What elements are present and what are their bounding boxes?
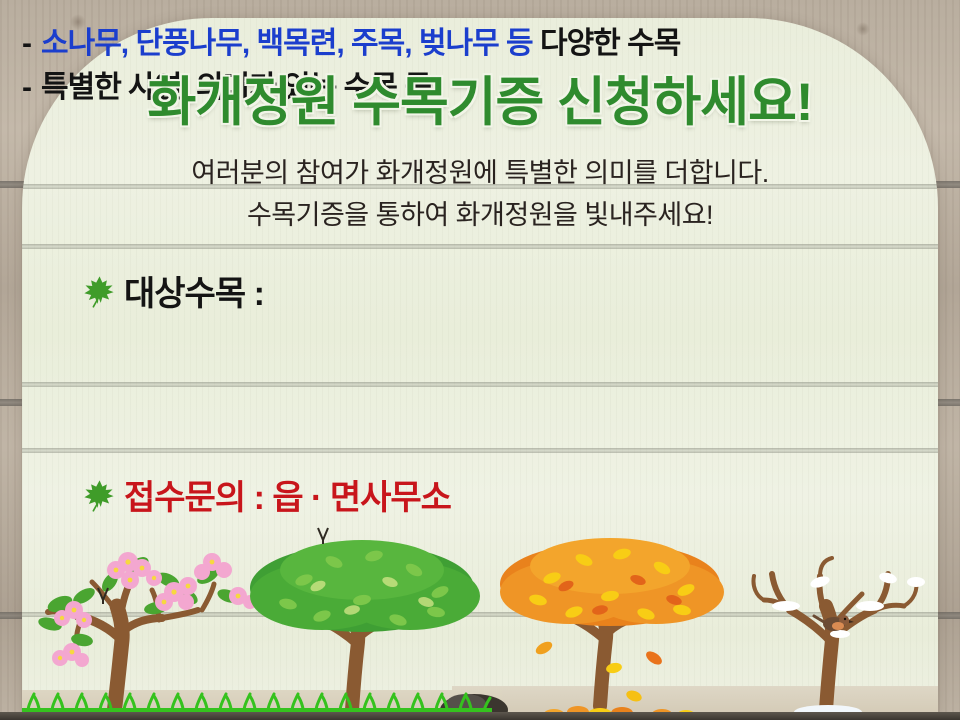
bullet-rest-text: 다양한 수목 — [540, 27, 680, 60]
poster-title: 화개정원 수목기증 신청하세요! — [22, 60, 938, 136]
bare-tree-winter — [753, 558, 925, 719]
autumn-canopy — [500, 538, 724, 626]
butterfly-icon — [318, 528, 328, 544]
bullet-dash: - — [22, 27, 31, 60]
summer-canopy — [250, 540, 480, 632]
four-season-illustration — [22, 500, 938, 720]
poster-subtitle-line1: 여러분의 참여가 화개정원에 특별한 의미를 더합니다. — [22, 151, 938, 190]
maple-leaf-icon — [80, 273, 118, 309]
bottom-edge-strip — [0, 712, 960, 720]
autumn-tree-fall — [500, 538, 724, 720]
bullet-item-1: -소나무, 단풍나무, 백목련, 주목, 벚나무 등 다양한 수목 — [22, 18, 938, 62]
target-trees-heading-label: 대상수목 : — [124, 266, 264, 315]
green-tree-summer — [250, 528, 480, 710]
poster-subtitle-line2: 수목기증을 통하여 화개정원을 빛내주세요! — [22, 193, 938, 232]
poster-root: 화개정원 수목기증 신청하세요! 여러분의 참여가 화개정원에 특별한 의미를 … — [0, 0, 960, 720]
target-trees-heading-row: 대상수목 : — [80, 266, 264, 315]
poster-content: 화개정원 수목기증 신청하세요! 여러분의 참여가 화개정원에 특별한 의미를 … — [22, 18, 938, 720]
bullet-highlight-text: 소나무, 단풍나무, 백목련, 주목, 벚나무 등 — [41, 27, 533, 60]
